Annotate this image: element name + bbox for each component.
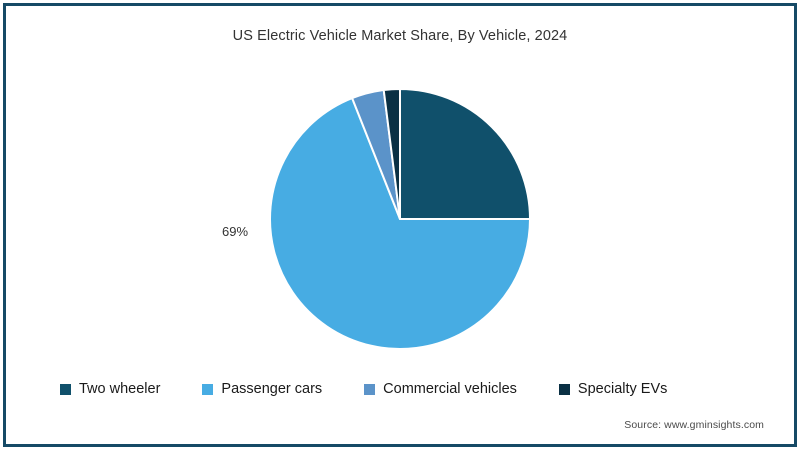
chart-legend: Two wheeler Passenger cars Commercial ve…	[60, 378, 750, 400]
legend-swatch-icon-commercial-vehicles	[364, 384, 375, 395]
legend-label-two-wheeler: Two wheeler	[79, 382, 160, 397]
legend-item-two-wheeler[interactable]: Two wheeler	[60, 382, 160, 397]
legend-swatch-icon-two-wheeler	[60, 384, 71, 395]
chart-figure: US Electric Vehicle Market Share, By Veh…	[0, 0, 800, 450]
legend-label-specialty-evs: Specialty EVs	[578, 382, 667, 397]
pie-slice-group	[270, 89, 530, 349]
legend-item-passenger-cars[interactable]: Passenger cars	[202, 382, 322, 397]
legend-item-specialty-evs[interactable]: Specialty EVs	[559, 382, 667, 397]
legend-label-passenger-cars: Passenger cars	[221, 382, 322, 397]
legend-label-commercial-vehicles: Commercial vehicles	[383, 382, 517, 397]
legend-swatch-icon-passenger-cars	[202, 384, 213, 395]
source-note: Source: www.gminsights.com	[624, 419, 764, 431]
legend-item-commercial-vehicles[interactable]: Commercial vehicles	[364, 382, 517, 397]
legend-swatch-icon-specialty-evs	[559, 384, 570, 395]
pie-slice-two-wheeler[interactable]	[400, 89, 530, 219]
pie-label-passenger-cars: 69%	[222, 224, 248, 239]
